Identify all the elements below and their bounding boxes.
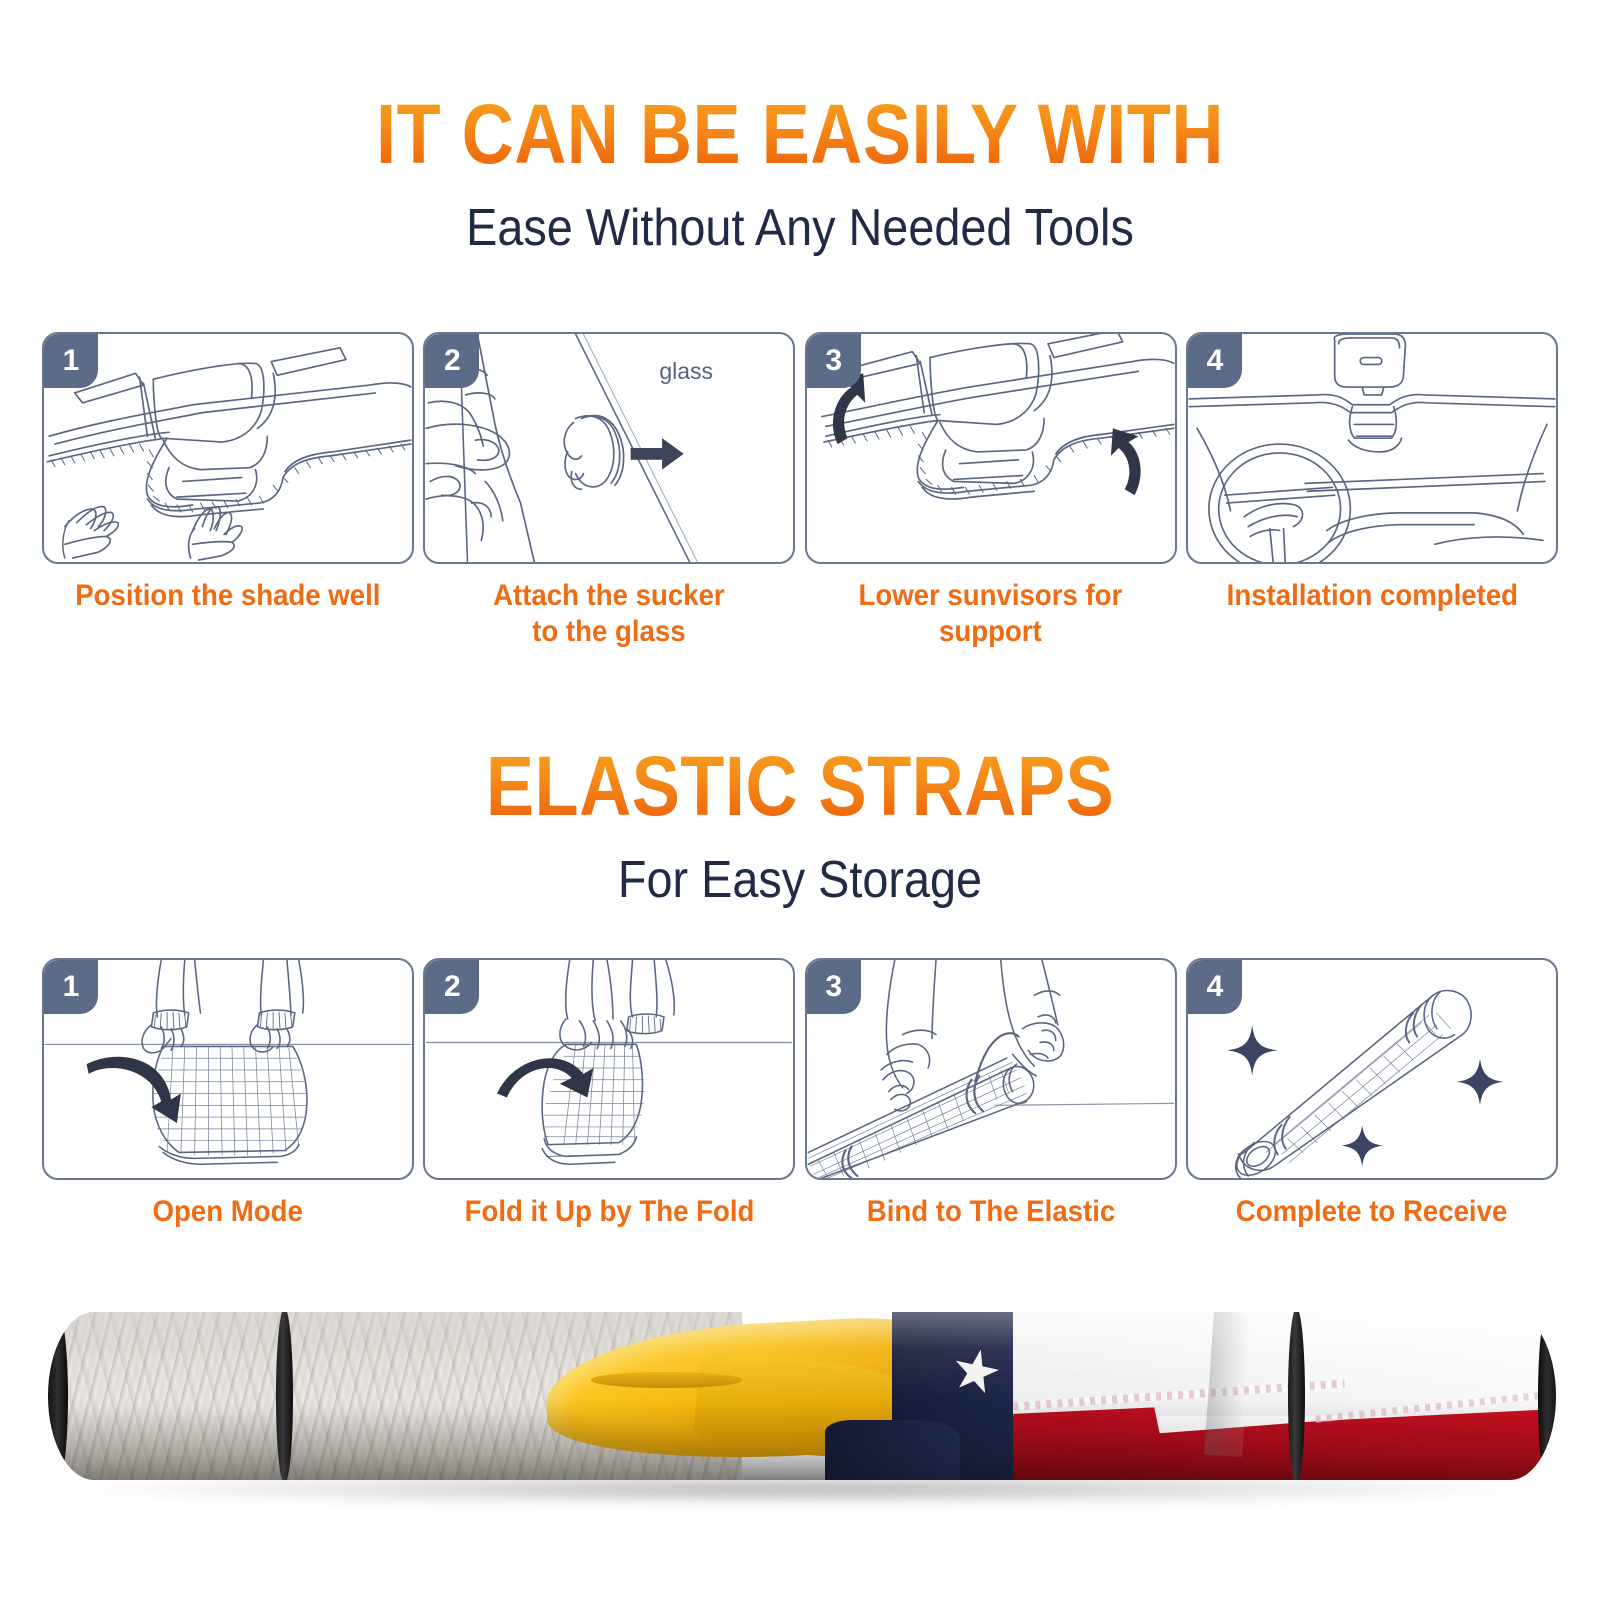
storage-step-1-caption: Open Mode bbox=[153, 1194, 303, 1230]
install-step-3-panel: 3 bbox=[805, 332, 1177, 564]
storage-steps-row: 1 bbox=[42, 958, 1558, 1230]
step-number-badge: 3 bbox=[807, 960, 861, 1014]
lower-sunvisors-illustration bbox=[807, 334, 1175, 562]
bind-elastic-illustration bbox=[807, 960, 1175, 1178]
section2-heading-block: ELASTIC STRAPS For Easy Storage bbox=[0, 738, 1600, 912]
install-step-3-caption: Lower sunvisors for support bbox=[859, 578, 1123, 650]
open-shade-illustration bbox=[44, 960, 412, 1178]
section2-subtitle: For Easy Storage bbox=[80, 848, 1520, 912]
storage-step-3-caption: Bind to The Elastic bbox=[866, 1194, 1114, 1230]
step-number-badge: 4 bbox=[1188, 334, 1242, 388]
install-step-1-panel: 1 bbox=[42, 332, 414, 564]
step-number-badge: 2 bbox=[425, 334, 479, 388]
install-step-1: 1 bbox=[42, 332, 414, 650]
install-step-1-caption: Position the shade well bbox=[75, 578, 380, 614]
install-step-4-panel: 4 bbox=[1186, 332, 1558, 564]
step-number-badge: 1 bbox=[44, 960, 98, 1014]
hero-heading-block: IT CAN BE EASILY WITH Ease Without Any N… bbox=[0, 86, 1600, 260]
page-subtitle: Ease Without Any Needed Tools bbox=[80, 196, 1520, 260]
rolled-sunshade-photo bbox=[48, 1312, 1556, 1480]
install-step-2: 2 glass bbox=[423, 332, 795, 650]
install-step-4: 4 bbox=[1186, 332, 1558, 650]
folded-shade-illustration bbox=[425, 960, 793, 1178]
install-step-2-panel: 2 glass bbox=[423, 332, 795, 564]
product-photo-section bbox=[30, 1300, 1570, 1520]
eagle-nostril bbox=[591, 1372, 742, 1387]
storage-step-2-panel: 2 bbox=[423, 958, 795, 1180]
step-number-badge: 1 bbox=[44, 334, 98, 388]
step-number-badge: 4 bbox=[1188, 960, 1242, 1014]
eagle-flag-print bbox=[48, 1312, 1556, 1480]
storage-step-1-panel: 1 bbox=[42, 958, 414, 1180]
storage-step-4: 4 bbox=[1186, 958, 1558, 1230]
install-step-2-caption: Attach the sucker to the glass bbox=[494, 578, 726, 650]
storage-step-2: 2 bbox=[423, 958, 795, 1230]
storage-step-4-panel: 4 bbox=[1186, 958, 1558, 1180]
storage-step-3-panel: 3 bbox=[805, 958, 1177, 1180]
section2-title: ELASTIC STRAPS bbox=[112, 738, 1488, 834]
elastic-strap-right-cap bbox=[1538, 1312, 1556, 1480]
storage-step-1: 1 bbox=[42, 958, 414, 1230]
elastic-strap-left-cap bbox=[48, 1312, 68, 1480]
installed-interior-illustration bbox=[1188, 334, 1556, 562]
installation-steps-row: 1 bbox=[42, 332, 1558, 650]
install-step-4-caption: Installation completed bbox=[1226, 578, 1517, 614]
dashboard-shade-illustration bbox=[44, 334, 412, 562]
infographic-page: IT CAN BE EASILY WITH Ease Without Any N… bbox=[0, 0, 1600, 1600]
suction-cup-glass-illustration bbox=[425, 334, 793, 562]
storage-step-3: 3 bbox=[805, 958, 1177, 1230]
storage-step-4-caption: Complete to Receive bbox=[1236, 1194, 1507, 1230]
step-number-badge: 2 bbox=[425, 960, 479, 1014]
page-title: IT CAN BE EASILY WITH bbox=[112, 86, 1488, 182]
storage-step-2-caption: Fold it Up by The Fold bbox=[464, 1194, 754, 1230]
install-step-3: 3 bbox=[805, 332, 1177, 650]
elastic-strap-2 bbox=[276, 1312, 293, 1480]
flag-canton-navy-lower bbox=[825, 1420, 961, 1480]
glass-annotation-label: glass bbox=[659, 358, 713, 385]
rolled-shade-illustration bbox=[1188, 960, 1556, 1178]
step-number-badge: 3 bbox=[807, 334, 861, 388]
elastic-strap-3 bbox=[1288, 1312, 1305, 1480]
